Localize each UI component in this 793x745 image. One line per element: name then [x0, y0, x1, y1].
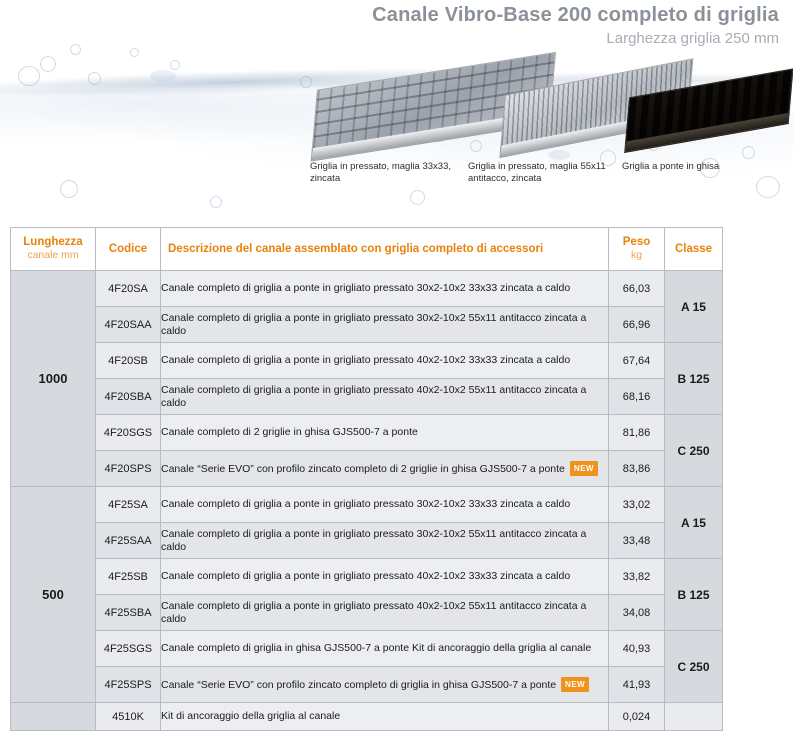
- cell-classe: B 125: [665, 559, 723, 631]
- spec-table-container: Lunghezza canale mm Codice Descrizione d…: [10, 227, 722, 731]
- cell-peso: 34,08: [609, 595, 665, 631]
- table-row: 4F20SBACanale completo di griglia a pont…: [11, 379, 723, 415]
- table-row: 4F25SGSCanale completo di griglia in ghi…: [11, 631, 723, 667]
- cell-codice: 4F25SA: [96, 487, 161, 523]
- table-row: 4510KKit di ancoraggio della griglia al …: [11, 703, 723, 731]
- cell-descrizione: Canale completo di griglia a ponte in gr…: [161, 343, 609, 379]
- col-header-peso-label: Peso: [623, 236, 651, 248]
- col-header-peso: Peso kg: [609, 228, 665, 271]
- cell-peso: 33,82: [609, 559, 665, 595]
- col-header-codice: Codice: [96, 228, 161, 271]
- spec-table: Lunghezza canale mm Codice Descrizione d…: [10, 227, 723, 731]
- cell-peso: 67,64: [609, 343, 665, 379]
- cell-classe: C 250: [665, 415, 723, 487]
- cell-codice: 4F25SBA: [96, 595, 161, 631]
- table-header-row: Lunghezza canale mm Codice Descrizione d…: [11, 228, 723, 271]
- cell-peso: 41,93: [609, 667, 665, 703]
- cell-peso: 83,86: [609, 451, 665, 487]
- col-header-peso-sub: kg: [609, 249, 664, 262]
- new-badge: NEW: [570, 461, 598, 476]
- col-header-lunghezza: Lunghezza canale mm: [11, 228, 96, 271]
- cell-lunghezza: [11, 703, 96, 731]
- cell-codice: 4F20SBA: [96, 379, 161, 415]
- cell-peso: 81,86: [609, 415, 665, 451]
- cell-descrizione: Canale “Serie EVO” con profilo zincato c…: [161, 451, 609, 487]
- col-header-classe: Classe: [665, 228, 723, 271]
- cell-codice: 4F25SB: [96, 559, 161, 595]
- page-subtitle: Larghezza griglia 250 mm: [606, 30, 779, 47]
- table-row: 4F25SAACanale completo di griglia a pont…: [11, 523, 723, 559]
- cell-descrizione: Canale completo di griglia a ponte in gr…: [161, 379, 609, 415]
- hero-banner: Canale Vibro-Base 200 completo di grigli…: [0, 0, 793, 218]
- table-row: 4F20SAACanale completo di griglia a pont…: [11, 307, 723, 343]
- cell-descrizione: Canale completo di griglia a ponte in gr…: [161, 271, 609, 307]
- cell-codice: 4F25SPS: [96, 667, 161, 703]
- col-header-lunghezza-label: Lunghezza: [23, 236, 82, 248]
- col-header-lunghezza-sub: canale mm: [11, 249, 95, 262]
- cell-peso: 40,93: [609, 631, 665, 667]
- new-badge: NEW: [561, 677, 589, 692]
- col-header-classe-label: Classe: [675, 243, 712, 255]
- col-header-descrizione-label: Descrizione del canale assemblato con gr…: [168, 243, 543, 255]
- cell-codice: 4510K: [96, 703, 161, 731]
- table-row: 10004F20SACanale completo di griglia a p…: [11, 271, 723, 307]
- cell-codice: 4F20SA: [96, 271, 161, 307]
- col-header-descrizione: Descrizione del canale assemblato con gr…: [161, 228, 609, 271]
- table-row: 4F25SPSCanale “Serie EVO” con profilo zi…: [11, 667, 723, 703]
- cell-classe: [665, 703, 723, 731]
- table-body: 10004F20SACanale completo di griglia a p…: [11, 271, 723, 731]
- cell-classe: B 125: [665, 343, 723, 415]
- cell-classe: A 15: [665, 487, 723, 559]
- cell-lunghezza: 1000: [11, 271, 96, 487]
- cell-classe: A 15: [665, 271, 723, 343]
- table-row: 4F20SPSCanale “Serie EVO” con profilo zi…: [11, 451, 723, 487]
- cell-descrizione: Canale completo di griglia a ponte in gr…: [161, 523, 609, 559]
- cell-descrizione: Canale “Serie EVO” con profilo zincato c…: [161, 667, 609, 703]
- cell-descrizione: Canale completo di griglia in ghisa GJS5…: [161, 631, 609, 667]
- cell-peso: 33,48: [609, 523, 665, 559]
- cell-codice: 4F20SB: [96, 343, 161, 379]
- table-header: Lunghezza canale mm Codice Descrizione d…: [11, 228, 723, 271]
- col-header-codice-label: Codice: [109, 243, 147, 255]
- cell-descrizione: Canale completo di griglia a ponte in gr…: [161, 559, 609, 595]
- table-row: 4F25SBACanale completo di griglia a pont…: [11, 595, 723, 631]
- cell-peso: 0,024: [609, 703, 665, 731]
- cell-descrizione: Canale completo di griglia a ponte in gr…: [161, 307, 609, 343]
- cell-peso: 33,02: [609, 487, 665, 523]
- cell-codice: 4F20SGS: [96, 415, 161, 451]
- table-row: 4F20SBCanale completo di griglia a ponte…: [11, 343, 723, 379]
- cell-codice: 4F20SPS: [96, 451, 161, 487]
- cell-descrizione: Canale completo di griglia a ponte in gr…: [161, 487, 609, 523]
- cell-classe: C 250: [665, 631, 723, 703]
- table-row: 5004F25SACanale completo di griglia a po…: [11, 487, 723, 523]
- table-row: 4F20SGSCanale completo di 2 griglie in g…: [11, 415, 723, 451]
- cell-descrizione: Canale completo di 2 griglie in ghisa GJ…: [161, 415, 609, 451]
- cell-descrizione: Canale completo di griglia a ponte in gr…: [161, 595, 609, 631]
- cell-descrizione: Kit di ancoraggio della griglia al canal…: [161, 703, 609, 731]
- cell-peso: 66,96: [609, 307, 665, 343]
- cell-codice: 4F25SGS: [96, 631, 161, 667]
- cell-codice: 4F20SAA: [96, 307, 161, 343]
- product-caption-1: Griglia in pressato, maglia 33x33, zinca…: [310, 161, 460, 185]
- product-caption-3: Griglia a ponte in ghisa: [622, 161, 782, 173]
- cell-peso: 66,03: [609, 271, 665, 307]
- cell-lunghezza: 500: [11, 487, 96, 703]
- cell-peso: 68,16: [609, 379, 665, 415]
- page-title: Canale Vibro-Base 200 completo di grigli…: [372, 4, 779, 27]
- product-caption-2: Griglia in pressato, maglia 55x11 antita…: [468, 161, 608, 185]
- cell-codice: 4F25SAA: [96, 523, 161, 559]
- table-row: 4F25SBCanale completo di griglia a ponte…: [11, 559, 723, 595]
